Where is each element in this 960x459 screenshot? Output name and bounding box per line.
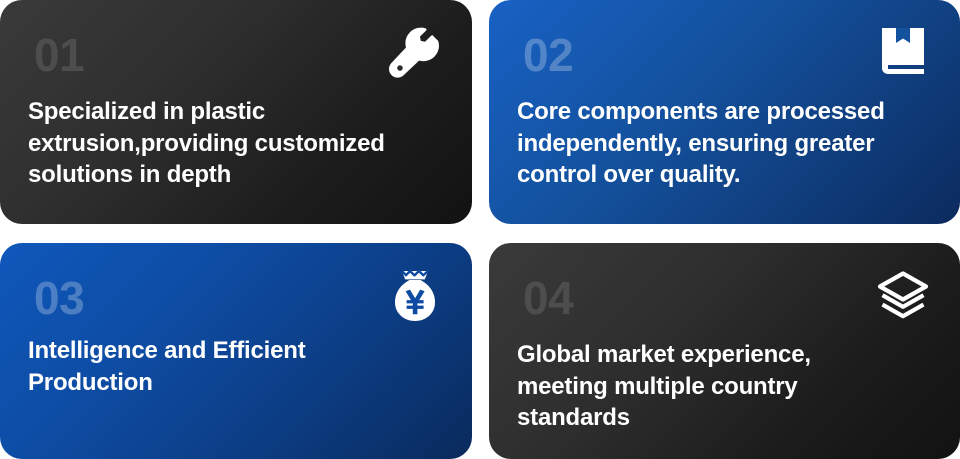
layers-stack-icon	[876, 269, 930, 323]
card-title-01: Specialized in plastic extrusion,providi…	[28, 96, 444, 191]
book-bookmark-icon	[876, 26, 930, 80]
feature-card-02[interactable]: 02 Core components are processed indepen…	[489, 0, 960, 224]
card-content-01: 01 Specialized in plastic extrusion,prov…	[0, 0, 472, 224]
wrench-icon	[388, 26, 442, 80]
card-number-04: 04	[523, 275, 932, 321]
card-title-04: Global market experience, meeting multip…	[517, 339, 932, 434]
feature-card-03[interactable]: 03 Intelligence and Efficient Production	[0, 243, 472, 459]
card-content-03: 03 Intelligence and Efficient Production	[0, 243, 472, 459]
feature-card-04[interactable]: 04 Global market experience, meeting mul…	[489, 243, 960, 459]
money-bag-yen-icon	[388, 269, 442, 323]
feature-card-grid: 01 Specialized in plastic extrusion,prov…	[0, 0, 960, 459]
card-content-02: 02 Core components are processed indepen…	[489, 0, 960, 224]
feature-card-01[interactable]: 01 Specialized in plastic extrusion,prov…	[0, 0, 472, 224]
card-number-03: 03	[34, 275, 444, 321]
card-title-03: Intelligence and Efficient Production	[28, 335, 444, 398]
card-content-04: 04 Global market experience, meeting mul…	[489, 243, 960, 459]
card-number-02: 02	[523, 32, 932, 78]
card-title-02: Core components are processed independen…	[517, 96, 932, 191]
card-number-01: 01	[34, 32, 444, 78]
